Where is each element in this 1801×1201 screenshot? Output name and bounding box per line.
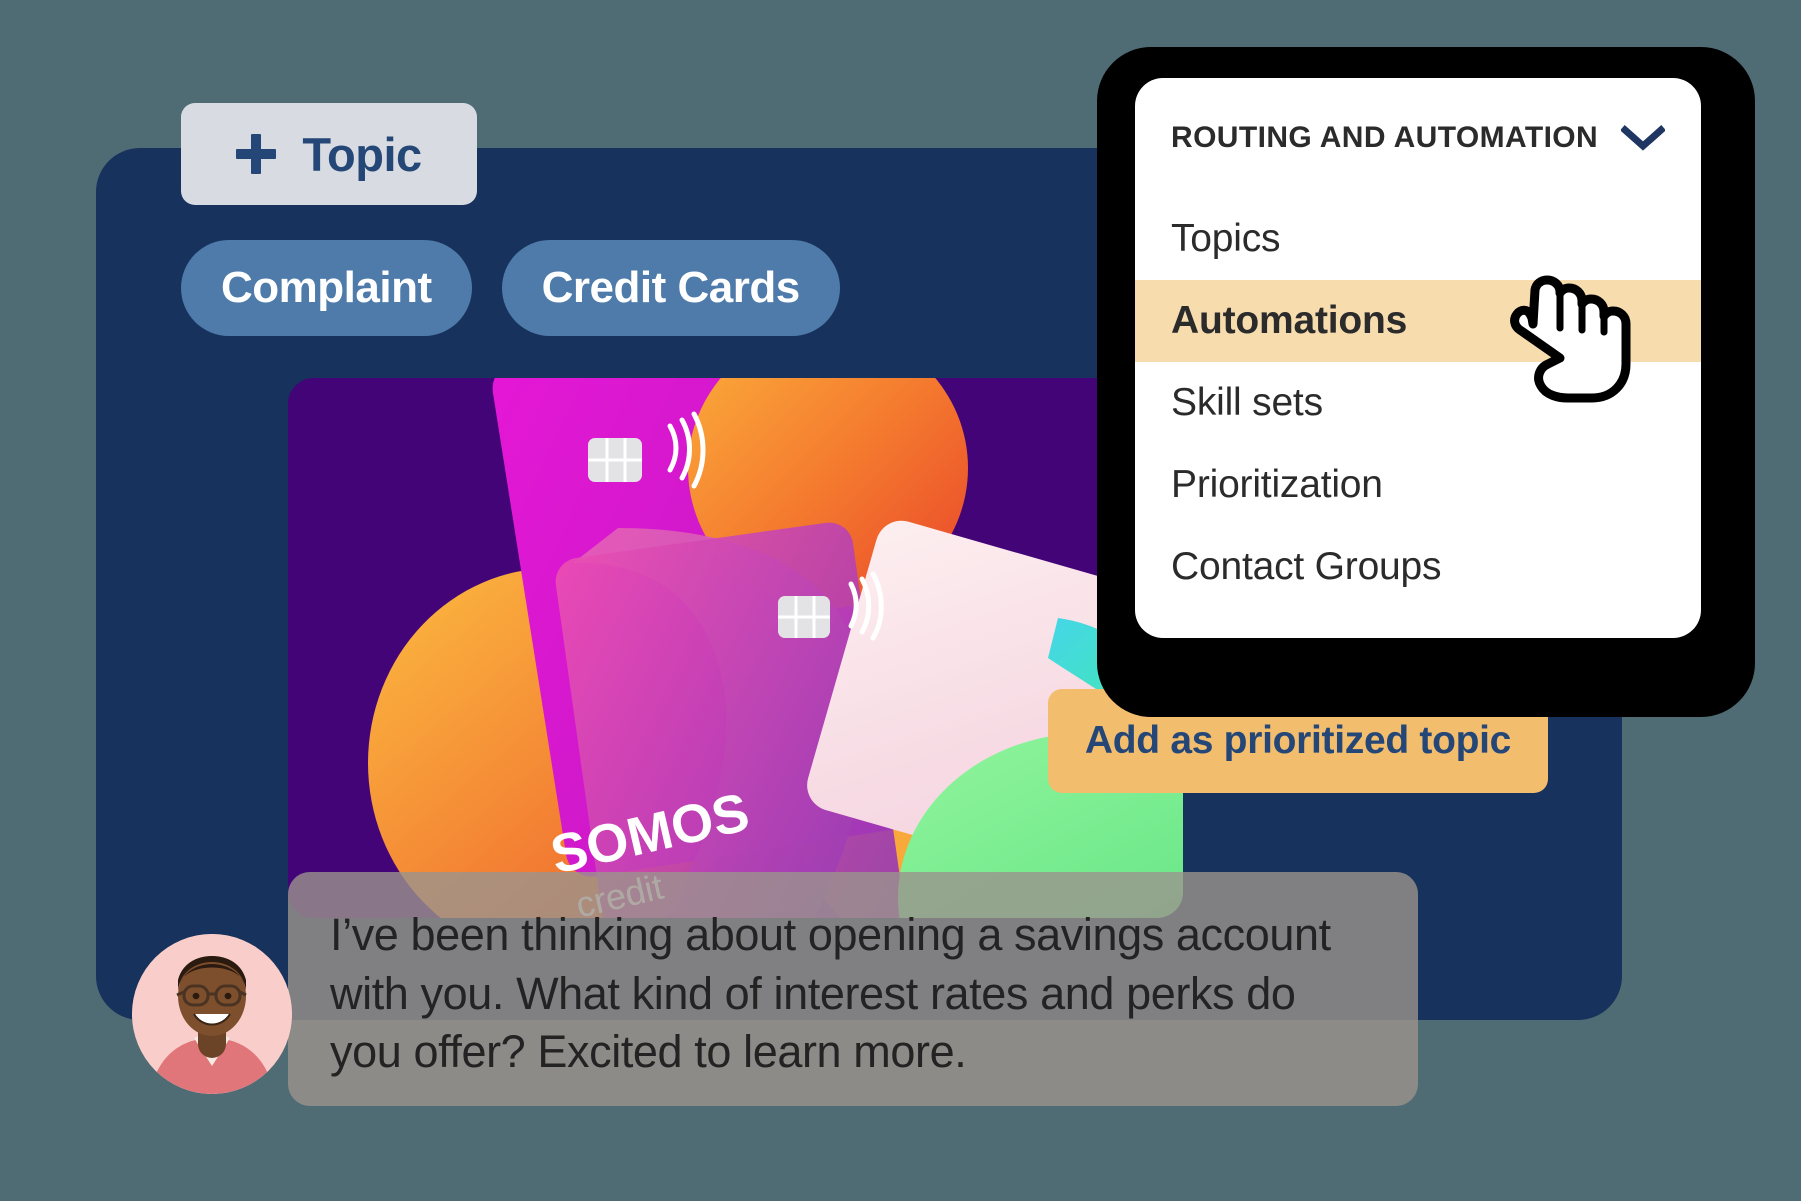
dropdown-item-topics[interactable]: Topics [1135,198,1701,280]
dropdown-header[interactable]: ROUTING AND AUTOMATION [1135,78,1701,198]
dropdown-item-automations[interactable]: Automations [1135,280,1701,362]
chat-message-text: I’ve been thinking about opening a savin… [330,906,1376,1082]
topic-chip-row: Complaint Credit Cards [181,240,840,336]
dropdown-item-skill-sets[interactable]: Skill sets [1135,362,1701,444]
routing-and-automation-dropdown: ROUTING AND AUTOMATION Topics Automation… [1135,78,1701,638]
dropdown-item-prioritization[interactable]: Prioritization [1135,444,1701,526]
screenshot-stage: Topic Complaint Credit Cards [0,0,1801,1201]
plus-icon [236,134,276,174]
dropdown-header-label: ROUTING AND AUTOMATION [1171,121,1598,155]
add-topic-label: Topic [302,131,421,178]
dropdown-item-contact-groups[interactable]: Contact Groups [1135,526,1701,608]
credit-cards-image: SOMOS credit [288,378,1183,918]
add-topic-button[interactable]: Topic [181,103,477,205]
avatar [132,934,292,1094]
chip-credit-cards[interactable]: Credit Cards [502,240,840,336]
chevron-down-icon[interactable] [1621,124,1665,152]
chat-message-bubble: I’ve been thinking about opening a savin… [288,872,1418,1106]
chip-complaint[interactable]: Complaint [181,240,472,336]
